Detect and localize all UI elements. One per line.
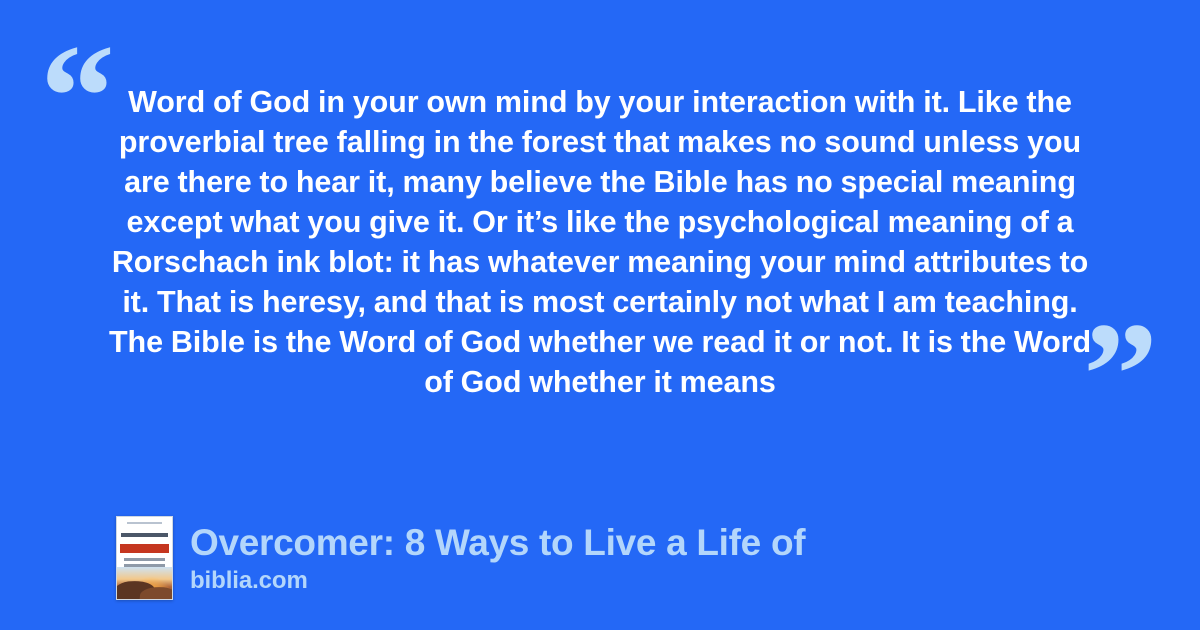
- book-title: Overcomer: 8 Ways to Live a Life of: [190, 521, 805, 565]
- footer-text-block: Overcomer: 8 Ways to Live a Life of bibl…: [190, 521, 805, 596]
- cover-title-band: [120, 544, 169, 553]
- cover-author-line: [121, 533, 168, 537]
- cover-top-rule: [127, 522, 162, 524]
- quote-text: Word of God in your own mind by your int…: [104, 82, 1096, 402]
- footer: Overcomer: 8 Ways to Live a Life of bibl…: [116, 516, 805, 600]
- site-name[interactable]: biblia.com: [190, 566, 805, 596]
- cover-subtitle-line-1: [124, 558, 165, 561]
- cover-landscape-photo: [117, 567, 172, 599]
- quote-card: “ Word of God in your own mind by your i…: [0, 0, 1200, 630]
- book-cover-thumbnail: [116, 516, 173, 600]
- close-quote-icon: ”: [1083, 300, 1158, 450]
